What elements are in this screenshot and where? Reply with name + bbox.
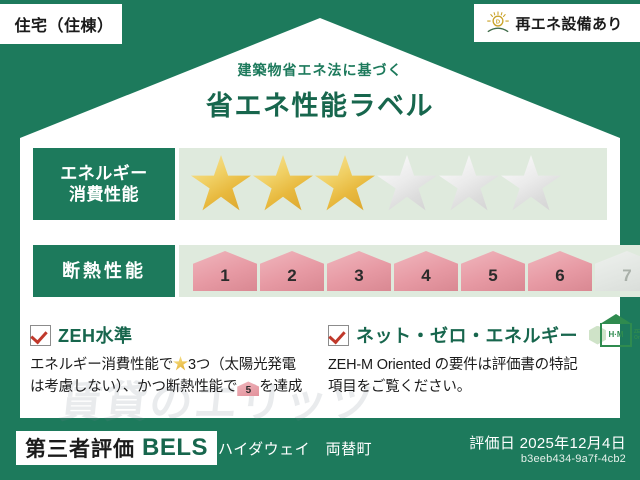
insulation-grade-badge-7: 7 xyxy=(595,251,640,291)
dwelling-type-tag: 住宅（住棟） xyxy=(0,4,122,44)
insulation-grade-badge-3: 3 xyxy=(327,251,391,291)
zeh-body-part2: 3つ（太陽光発電 xyxy=(188,357,296,373)
star-icon-6 xyxy=(501,155,561,213)
title-subtitle: 建築物省エネ法に基づく xyxy=(0,60,640,80)
svg-text:D: D xyxy=(496,20,500,26)
star-icon-2 xyxy=(253,155,313,213)
sun-icon: D xyxy=(485,10,511,36)
evaluation-date: 評価日 2025年12月4日 xyxy=(469,432,626,453)
insulation-grade-badge-2: 2 xyxy=(260,251,324,291)
building-name: ハイダウェイ 両替町 xyxy=(218,438,372,459)
star-icon-5 xyxy=(439,155,499,213)
zeh-standard-header: ZEH水準 xyxy=(30,322,320,348)
zeh-body-part3: は考慮しない）、かつ断熱性能で xyxy=(30,379,237,395)
net-zero-title: ネット・ゼロ・エネルギー xyxy=(356,322,578,348)
renewable-equipment-label: 再エネ設備あり xyxy=(515,13,622,34)
house-icon: H·M xyxy=(600,323,632,347)
insulation-grade-badge-6: 6 xyxy=(528,251,592,291)
energy-performance-label-line2: 消費性能 xyxy=(69,184,139,205)
title-block: 建築物省エネ法に基づく 省エネ性能ラベル xyxy=(0,60,640,123)
zeh-body-part1: エネルギー消費性能で xyxy=(30,357,173,373)
star-icon-1 xyxy=(191,155,251,213)
energy-performance-label-line1: エネルギー xyxy=(60,163,148,184)
bels-jp-label: 第三者評価 xyxy=(25,433,135,463)
insulation-performance-label: 断熱性能 xyxy=(62,260,146,283)
insulation-performance-label-box: 断熱性能 xyxy=(33,245,175,297)
insulation-performance-row: 断熱性能 1234567 xyxy=(33,245,607,297)
zeh-standard-body: エネルギー消費性能で3つ（太陽光発電 は考慮しない）、かつ断熱性能で5を達成 xyxy=(30,354,320,399)
star-icon-4 xyxy=(377,155,437,213)
footer-bar: 第三者評価 BELS ハイダウェイ 両替町 評価日 2025年12月4日 b3e… xyxy=(0,422,640,480)
net-zero-body-line2: 項目をご覧ください。 xyxy=(328,379,471,395)
star-icon-inline xyxy=(173,356,188,371)
net-zero-body-line1: ZEH-M Oriented の要件は評価書の特記 xyxy=(328,357,578,373)
net-zero-body: ZEH-M Oriented の要件は評価書の特記 項目をご覧ください。 xyxy=(328,354,628,399)
bels-en-label: BELS xyxy=(142,434,208,462)
bels-badge: 第三者評価 BELS xyxy=(16,431,217,465)
net-zero-header: ネット・ゼロ・エネルギー H·M ZEH-M Oriented xyxy=(328,322,628,348)
title-main: 省エネ性能ラベル xyxy=(0,84,640,123)
renewable-equipment-tag: D 再エネ設備あり xyxy=(474,4,640,42)
insulation-grade-inline-badge: 5 xyxy=(237,381,259,396)
zeh-standard-title: ZEH水準 xyxy=(58,322,133,348)
star-rating-track xyxy=(179,148,607,220)
energy-performance-label-box: エネルギー 消費性能 xyxy=(33,148,175,220)
zeh-standard-section: ZEH水準 エネルギー消費性能で3つ（太陽光発電 は考慮しない）、かつ断熱性能で… xyxy=(30,322,320,399)
energy-performance-label: 賃貸のエリッツ 住宅（住棟） D 再エネ設備あり 建築物省エネ法に基づく 省エネ… xyxy=(0,0,640,480)
zeh-m-caption-line2: Oriented xyxy=(634,335,640,341)
dwelling-type-label: 住宅（住棟） xyxy=(14,12,113,36)
energy-performance-row: エネルギー 消費性能 xyxy=(33,148,607,220)
insulation-grade-badge-4: 4 xyxy=(394,251,458,291)
zeh-m-oriented-logo: H·M ZEH-M Oriented xyxy=(589,323,640,347)
insulation-grade-badge-1: 1 xyxy=(193,251,257,291)
net-zero-energy-section: ネット・ゼロ・エネルギー H·M ZEH-M Oriented ZEH-M Or… xyxy=(328,322,628,399)
net-zero-checkbox-checked-icon xyxy=(328,325,349,346)
star-icon-3 xyxy=(315,155,375,213)
zeh-checkbox-checked-icon xyxy=(30,325,51,346)
insulation-grade-badge-5: 5 xyxy=(461,251,525,291)
zeh-body-part4: を達成 xyxy=(259,379,302,395)
insulation-grade-track: 1234567 xyxy=(179,245,640,297)
zeh-m-caption-line1: ZEH-M xyxy=(634,329,640,335)
zeh-m-logo-caption: ZEH-M Oriented xyxy=(634,329,640,342)
zeh-m-logo-text: H·M xyxy=(608,330,623,339)
evaluation-id: b3eeb434-9a7f-4cb2 xyxy=(521,453,626,465)
